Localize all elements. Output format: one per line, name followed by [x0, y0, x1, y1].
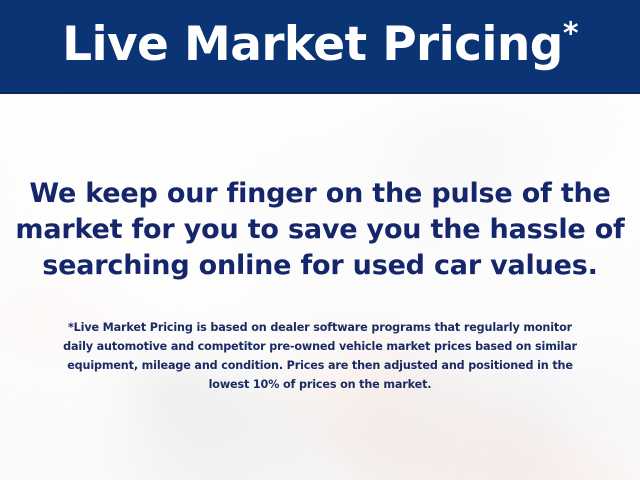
- headline: We keep our finger on the pulse of the m…: [0, 176, 640, 284]
- header-band: Live Market Pricing*: [0, 0, 640, 94]
- disclaimer-line-3: equipment, mileage and condition. Prices…: [0, 356, 640, 375]
- disclaimer: *Live Market Pricing is based on dealer …: [0, 318, 640, 394]
- disclaimer-line-1: *Live Market Pricing is based on dealer …: [0, 318, 640, 337]
- page-title-text: Live Market Pricing: [62, 17, 563, 72]
- page-title-asterisk: *: [563, 16, 578, 51]
- disclaimer-line-2: daily automotive and competitor pre-owne…: [0, 337, 640, 356]
- headline-line-2: market for you to save you the hassle of: [0, 212, 640, 248]
- live-market-pricing-banner: Live Market Pricing* We keep our finger …: [0, 0, 640, 480]
- headline-line-3: searching online for used car values.: [0, 248, 640, 284]
- page-title: Live Market Pricing*: [62, 21, 578, 72]
- disclaimer-line-4: lowest 10% of prices on the market.: [0, 375, 640, 394]
- headline-line-1: We keep our finger on the pulse of the: [0, 176, 640, 212]
